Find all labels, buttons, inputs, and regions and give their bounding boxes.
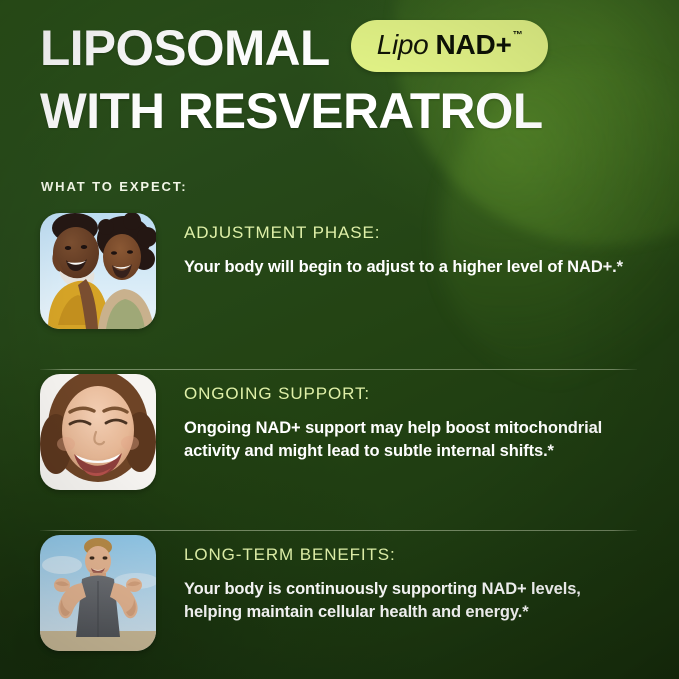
photo-man-flexing-biceps [40,535,156,651]
promo-banner: LIPOSOMAL LipoNAD+™ WITH RESVERATROL WHA… [0,0,679,679]
list-item-heading: LONG-TERM BENEFITS: [184,545,640,565]
trademark-symbol: ™ [513,30,523,41]
title-row: LIPOSOMAL LipoNAD+™ [40,22,655,74]
list-item-body: Ongoing NAD+ support may help boost mito… [184,417,636,464]
expectations-list: ADJUSTMENT PHASE: Your body will begin t… [40,209,640,679]
page-title-line-1: LIPOSOMAL [40,23,330,73]
list-item-text: ONGOING SUPPORT: Ongoing NAD+ support ma… [184,370,640,464]
photo-laughing-couple-outdoors [40,213,156,329]
list-item-body: Your body will begin to adjust to a high… [184,256,636,279]
list-item: LONG-TERM BENEFITS: Your body is continu… [40,531,640,679]
list-item: ONGOING SUPPORT: Ongoing NAD+ support ma… [40,370,640,530]
list-item-text: ADJUSTMENT PHASE: Your body will begin t… [184,209,640,279]
brand-name-nad: NAD+ [435,29,511,61]
photo-smiling-woman-closeup [40,374,156,490]
brand-badge: LipoNAD+™ [351,20,548,72]
list-item-text: LONG-TERM BENEFITS: Your body is continu… [184,531,640,625]
page-title-line-2: WITH RESVERATROL [40,86,649,136]
list-item-heading: ONGOING SUPPORT: [184,384,640,404]
list-item-body: Your body is continuously supporting NAD… [184,578,636,625]
header: LIPOSOMAL LipoNAD+™ WITH RESVERATROL [40,22,655,136]
list-item-heading: ADJUSTMENT PHASE: [184,223,640,243]
section-label: WHAT TO EXPECT: [41,179,187,194]
brand-name-lipo: Lipo [377,29,429,61]
list-item: ADJUSTMENT PHASE: Your body will begin t… [40,209,640,369]
